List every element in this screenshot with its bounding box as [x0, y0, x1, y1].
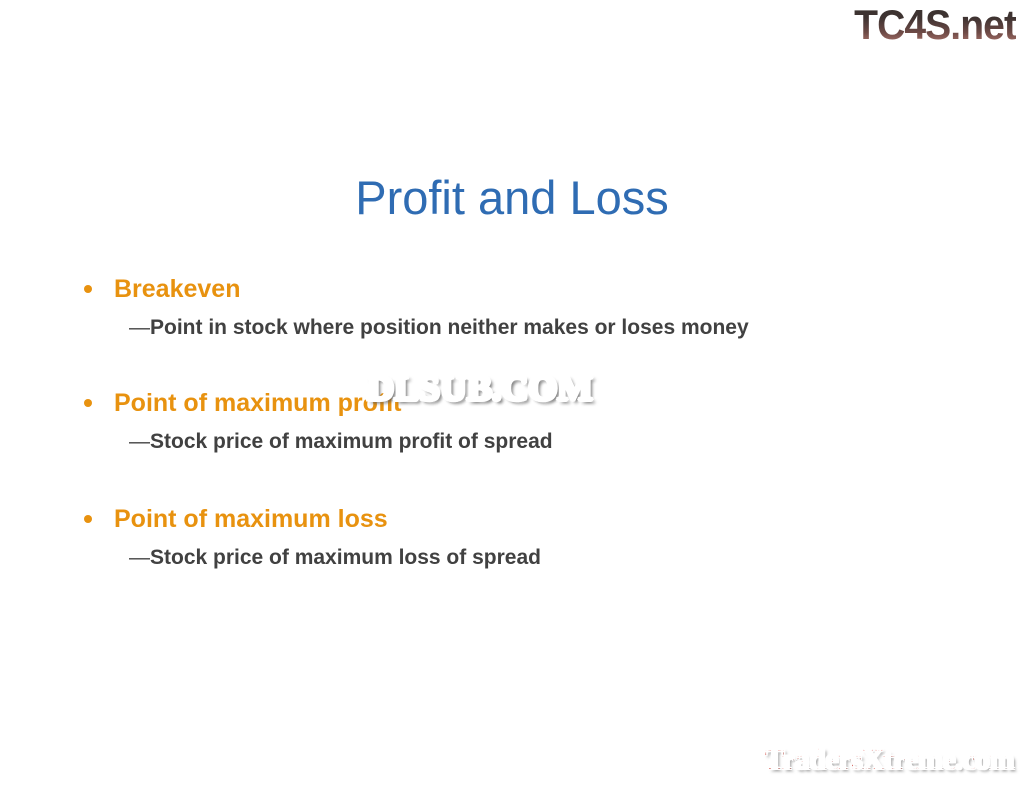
slide-canvas: TC4S.net Profit and Loss Breakeven — Poi…: [0, 0, 1024, 791]
bullet-heading-max-loss: Point of maximum loss: [72, 502, 972, 536]
dlsub-watermark: DLSUB.COM DLSUB.COM: [367, 369, 593, 407]
tradersxtreme-footer-logo: TradersXtreme.com: [765, 743, 1014, 777]
tc4s-header-logo: TC4S.net: [854, 2, 1016, 48]
dash-marker-icon: —: [129, 313, 150, 342]
bullet-dot-icon: [84, 386, 94, 420]
page-title: Profit and Loss: [0, 170, 1024, 226]
bullet-group-breakeven: Breakeven — Point in stock where positio…: [72, 272, 972, 342]
dash-marker-icon: —: [129, 543, 150, 572]
subbullet-max-loss: — Stock price of maximum loss of spread: [72, 543, 972, 572]
bullet-dot-icon: [84, 272, 94, 306]
bullet-heading-label: Point of maximum loss: [114, 505, 388, 533]
subbullet-breakeven: — Point in stock where position neither …: [72, 313, 972, 342]
bullet-list: Breakeven — Point in stock where positio…: [72, 272, 972, 572]
subbullet-label: Point in stock where position neither ma…: [150, 316, 749, 339]
bullet-heading-label: Breakeven: [114, 275, 240, 303]
bullet-dot-icon: [84, 502, 94, 536]
dlsub-watermark-label: DLSUB.COM: [367, 368, 593, 408]
dash-marker-icon: —: [129, 427, 150, 456]
bullet-heading-label: Point of maximum profit: [114, 389, 402, 417]
subbullet-max-profit: — Stock price of maximum profit of sprea…: [72, 427, 972, 456]
subbullet-label: Stock price of maximum profit of spread: [150, 430, 553, 453]
bullet-heading-breakeven: Breakeven: [72, 272, 972, 306]
subbullet-label: Stock price of maximum loss of spread: [150, 546, 541, 569]
bullet-group-max-loss: Point of maximum loss — Stock price of m…: [72, 502, 972, 572]
